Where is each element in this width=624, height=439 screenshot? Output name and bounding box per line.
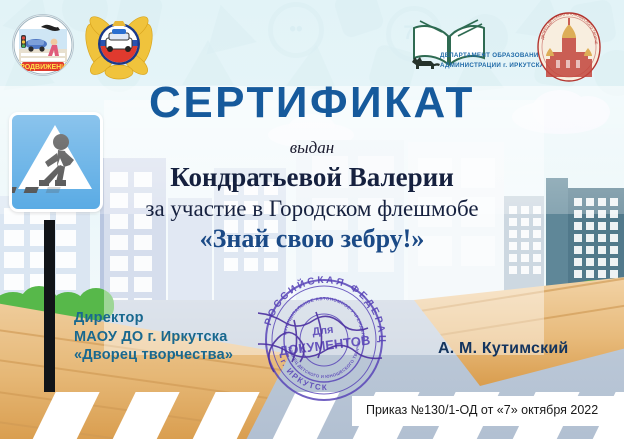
page-title: СЕРТИФИКАТ: [0, 78, 624, 128]
signature-left-block: Директор МАОУ ДО г. Иркутска «Дворец тво…: [74, 309, 233, 365]
signature-left-line-1: Директор: [74, 309, 233, 328]
official-seal-stamp: РОССИЙСКАЯ ФЕДЕРАЦИЯ г. ИРКУТСК МУНИЦИПА…: [258, 276, 393, 404]
signature-right-name: А. М. Кутимский: [438, 340, 568, 358]
signature-left-line-3: «Дворец творчества»: [74, 346, 233, 365]
gibdd-emblem: [84, 10, 154, 80]
stamp-center-line-1: Для: [312, 324, 335, 339]
irkutsk-cathedral-emblem: ДВОРЕЦ ДЕТСКОГО И ЮНОШЕСКОГО ТВОРЧЕСТВА: [536, 12, 602, 82]
prodvizhenie-logo: ПРОДВИЖЕНИЕ: [12, 14, 74, 76]
department-line-2: АДМИНИСТРАЦИИ г. ИРКУТСКА: [440, 62, 545, 69]
recipient-name: Кондратьевой Валерии: [0, 162, 624, 193]
event-name: «Знай свою зебру!»: [0, 224, 624, 254]
award-reason: за участие в Городском флешмобе: [0, 196, 624, 222]
signature-left-line-2: МАОУ ДО г. Иркутска: [74, 328, 233, 347]
department-line-1: ДЕПАРТАМЕНТ ОБРАЗОВАНИЯ: [440, 52, 543, 59]
awarded-label: выдан: [0, 138, 624, 158]
certificate: •• 70: [0, 0, 624, 439]
order-text: Приказ №130/1-ОД от «7» октября 2022: [366, 403, 598, 417]
cat-icon: [412, 57, 440, 69]
